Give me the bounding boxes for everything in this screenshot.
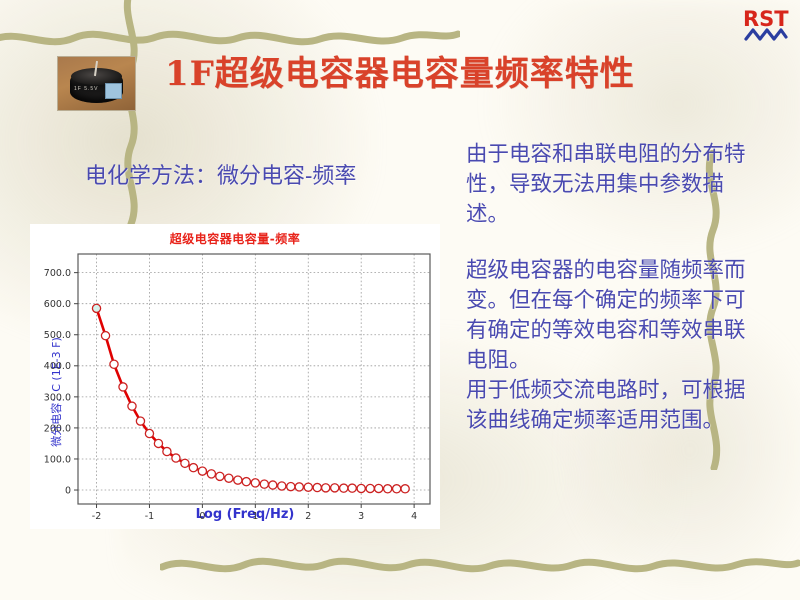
chart-plot: 0100.0200.0300.0400.0500.0600.0700.0-2-1… (30, 224, 440, 529)
page-title: 1F超级电容器电容量频率特性 (165, 46, 725, 95)
logo-text: RST (743, 7, 789, 31)
logo-wave-icon (746, 30, 786, 39)
decorative-horizontal-stroke-bottom (160, 545, 800, 585)
svg-text:600.0: 600.0 (44, 299, 71, 310)
svg-text:0: 0 (199, 511, 205, 522)
body-text-block: 由于电容和串联电阻的分布特性，导致无法用集中参数描述。 超级电容器的电容量随频率… (466, 140, 756, 436)
svg-text:4: 4 (411, 511, 417, 522)
svg-text:2: 2 (305, 511, 311, 522)
body-paragraph-3: 用于低频交流电路时，可根据该曲线确定频率适用范围。 (466, 376, 756, 436)
svg-text:-2: -2 (92, 511, 101, 522)
paragraph-spacer (466, 230, 756, 256)
capacitor-blue-label (105, 83, 122, 99)
svg-text:0: 0 (65, 485, 71, 496)
capacitor-print-text: 1F 5.5V (74, 86, 99, 92)
svg-text:200.0: 200.0 (44, 423, 71, 434)
rst-logo: RST (740, 2, 792, 46)
body-paragraph-2: 超级电容器的电容量随频率而变。但在每个确定的频率下可有确定的等效电容和等效串联电… (466, 256, 756, 376)
svg-text:-1: -1 (145, 511, 154, 522)
svg-text:100.0: 100.0 (44, 454, 71, 465)
body-paragraph-1: 由于电容和串联电阻的分布特性，导致无法用集中参数描述。 (466, 140, 756, 230)
svg-text:300.0: 300.0 (44, 392, 71, 403)
svg-text:3: 3 (358, 511, 364, 522)
subtitle: 电化学方法：微分电容-频率 (85, 158, 356, 190)
chart-panel: 超级电容器电容量-频率 微分电容：C (1E-3 F) Log (Freq/Hz… (30, 224, 440, 529)
svg-text:700.0: 700.0 (44, 268, 71, 279)
slide: RST 1F 5.5V 1F超级电容器电容量频率特性 电化学方法：微分电容-频率… (0, 0, 800, 600)
svg-text:400.0: 400.0 (44, 361, 71, 372)
svg-text:1: 1 (252, 511, 258, 522)
supercapacitor-photo: 1F 5.5V (57, 56, 136, 111)
svg-text:500.0: 500.0 (44, 330, 71, 341)
